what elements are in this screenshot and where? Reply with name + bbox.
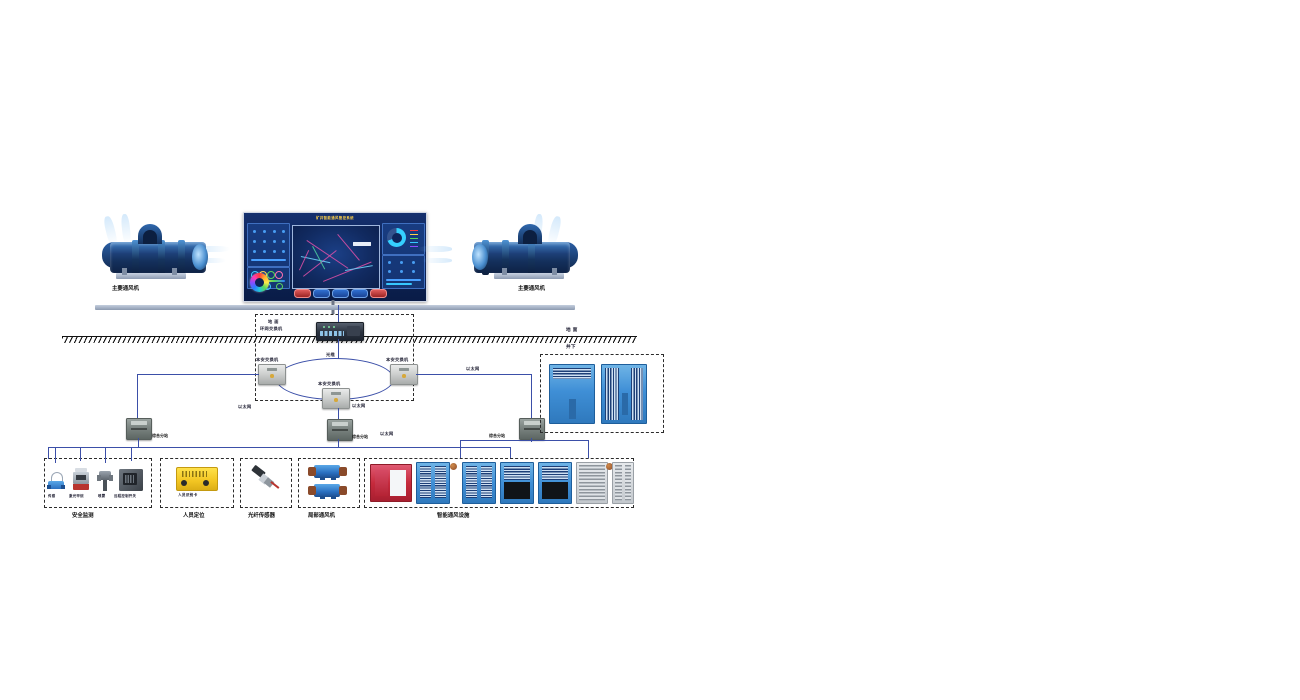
local-fan-2 (306, 483, 350, 499)
device-laser-methane-label: 激光甲烷 (69, 493, 84, 498)
integrated-substation-1[interactable] (126, 418, 152, 440)
link-switch-to-ring (338, 339, 339, 359)
vent-facility-red-door (370, 464, 412, 502)
device-remote-switch-label: 远程控制开关 (114, 493, 136, 498)
ethernet-label-right: 以太网 (466, 366, 479, 372)
vent-facility-gray-door-1 (576, 462, 608, 504)
vent-facility-gray-door-2 (612, 462, 634, 504)
integrated-substation-2[interactable] (327, 419, 353, 441)
vent-facility-cabinet-2 (462, 462, 496, 504)
network-graph-view (292, 225, 380, 289)
link-monitor-to-switch (338, 305, 339, 323)
device-sensor-label: 传感 (48, 493, 55, 498)
ring-network-switch[interactable] (316, 322, 364, 341)
screen-button-2[interactable] (313, 289, 330, 298)
ethernet-label-sub: 以太网 (380, 431, 393, 437)
device-spray-label: 喷雾 (98, 493, 105, 498)
substation-2-label: 综合分站 (352, 434, 368, 440)
main-ventilator-left: 主要通风机 (96, 216, 228, 294)
fan-right-label: 主要通风机 (518, 284, 545, 292)
caption-fiber-sensor: 光纤传感器 (248, 511, 275, 519)
intrinsically-safe-switch-bottom[interactable] (322, 388, 350, 409)
device-spray (97, 471, 113, 492)
control-monitor: 矿井智能通风管控系统 (243, 212, 427, 302)
substation-1-label: 综合分站 (152, 433, 168, 439)
device-remote-switch (119, 469, 143, 492)
monitor-base-shelf (95, 305, 575, 310)
underground-cabinet-1 (549, 364, 595, 424)
screen-button-3[interactable] (332, 289, 349, 298)
ring-switch-label-line1: 地 面 (268, 319, 279, 325)
caption-personnel-positioning: 人员定位 (183, 511, 205, 519)
monitor-left-panel (247, 223, 290, 267)
main-ventilator-right: 主要通风机 (452, 216, 584, 294)
bus-left (48, 447, 338, 448)
link-ring-to-sub3-v (531, 374, 532, 418)
device-sensor (47, 472, 65, 492)
is-switch-bottom-label: 本安交换机 (318, 381, 340, 387)
device-laser-methane (71, 468, 91, 493)
vent-pulley-1 (450, 463, 457, 470)
link-ring-to-sub1-h (137, 374, 259, 375)
caption-local-ventilator: 局部通风机 (308, 511, 335, 519)
monitor-right-lower-panel (382, 255, 425, 289)
label-underground: 井下 (566, 344, 576, 350)
ring-switch-label-line2: 环网交换机 (260, 326, 282, 332)
link-ring-to-sub3-h (416, 374, 532, 375)
is-switch-left-label: 本安交换机 (256, 357, 278, 363)
caption-intelligent-ventilation: 智能通风设施 (437, 511, 469, 519)
device-fiber-probe (250, 466, 282, 494)
diagram-canvas: 矿井智能通风管控系统 (0, 0, 1300, 700)
device-personnel-card-label: 人员识别卡 (178, 493, 197, 498)
intrinsically-safe-switch-left[interactable] (258, 364, 286, 385)
screen-title: 矿井智能通风管控系统 (316, 215, 354, 220)
caption-safety-monitoring: 安全监测 (72, 511, 94, 519)
substation-3-label: 综合分站 (489, 433, 505, 439)
device-personnel-card (176, 467, 216, 491)
gauge-widget (387, 228, 406, 247)
intrinsically-safe-switch-right[interactable] (390, 364, 418, 385)
vent-facility-cabinet-1 (416, 462, 450, 504)
local-fan-1 (306, 464, 350, 480)
color-wheel-widget (250, 273, 269, 292)
is-switch-right-label: 本安交换机 (386, 357, 408, 363)
screen-button-5[interactable] (370, 289, 387, 298)
label-surface: 地 面 (566, 327, 578, 333)
ethernet-label-left: 以太网 (238, 404, 251, 410)
vent-facility-cabinet-4 (538, 462, 572, 504)
bus-mid (338, 447, 510, 448)
screen-button-1[interactable] (294, 289, 311, 298)
screen-button-4[interactable] (351, 289, 368, 298)
vent-facility-cabinet-3 (500, 462, 534, 504)
fan-left-label: 主要通风机 (112, 284, 139, 292)
link-ring-to-sub1-v (137, 374, 138, 418)
ethernet-label-mid: 以太网 (352, 403, 365, 409)
bus-right (460, 440, 588, 441)
underground-cabinet-2 (601, 364, 647, 424)
